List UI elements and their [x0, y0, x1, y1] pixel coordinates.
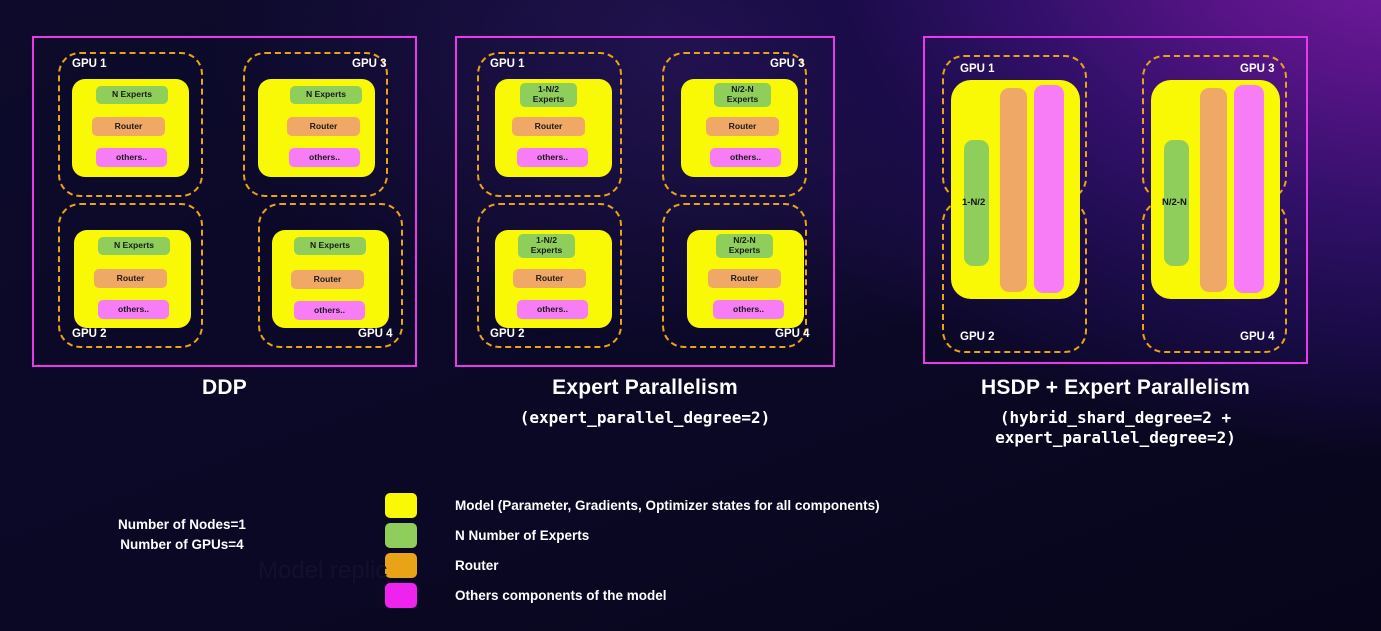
- chip-others-ep-gpu2: others..: [517, 300, 588, 319]
- gpu-label-ddp-gpu3: GPU 3: [352, 58, 387, 70]
- gpu-label-ep-gpu3: GPU 3: [770, 58, 805, 70]
- chip-others-ddp-gpu3: others..: [289, 148, 360, 167]
- legend-label-experts: N Number of Experts: [455, 528, 589, 543]
- legend-item-model: Model (Parameter, Gradients, Optimizer s…: [385, 490, 880, 520]
- ghost-label-model-replica: Model replic: [258, 557, 387, 585]
- vbar-router-hsdp-col1: [1000, 88, 1027, 292]
- gpu-label-ddp-gpu2: GPU 2: [72, 328, 107, 340]
- gpu-label-ddp-gpu1: GPU 1: [72, 58, 107, 70]
- chip-others-ddp-gpu4: others..: [294, 301, 365, 320]
- chip-experts-ep-gpu1: 1-N/2 Experts: [520, 83, 577, 107]
- gpu-label-hsdp-gpu3: GPU 3: [1240, 63, 1275, 75]
- vbar-experts-label-hsdp-col2: N/2-N: [1162, 197, 1187, 208]
- legend-swatch-router: [385, 553, 417, 578]
- panel-title-ddp: DDP: [32, 376, 417, 400]
- panel-title-hsdp-expert-parallelism: HSDP + Expert Parallelism: [923, 376, 1308, 400]
- legend-item-router: Router: [385, 550, 880, 580]
- legend-swatch-model: [385, 493, 417, 518]
- panel-subtitle-expert-parallelism: (expert_parallel_degree=2): [435, 408, 855, 428]
- legend-item-experts: N Number of Experts: [385, 520, 880, 550]
- chip-router-ddp-gpu3: Router: [287, 117, 360, 136]
- vbar-experts-label-hsdp-col1: 1-N/2: [962, 197, 985, 208]
- legend: Model (Parameter, Gradients, Optimizer s…: [385, 490, 880, 610]
- chip-others-ddp-gpu1: others..: [96, 148, 167, 167]
- gpu-label-ep-gpu4: GPU 4: [775, 328, 810, 340]
- chip-others-ep-gpu3: others..: [710, 148, 781, 167]
- vbar-others-hsdp-col1: [1034, 85, 1064, 293]
- gpu-label-ep-gpu2: GPU 2: [490, 328, 525, 340]
- chip-router-ddp-gpu1: Router: [92, 117, 165, 136]
- legend-label-router: Router: [455, 558, 499, 573]
- gpu-label-hsdp-gpu2: GPU 2: [960, 331, 995, 343]
- chip-router-ep-gpu1: Router: [512, 117, 585, 136]
- legend-label-others: Others components of the model: [455, 588, 667, 603]
- legend-swatch-others: [385, 583, 417, 608]
- chip-others-ep-gpu1: others..: [517, 148, 588, 167]
- chip-experts-ddp-gpu4: N Experts: [294, 237, 366, 255]
- chip-experts-ep-gpu4: N/2-N Experts: [716, 234, 773, 258]
- chip-others-ep-gpu4: others..: [713, 300, 784, 319]
- legend-label-model: Model (Parameter, Gradients, Optimizer s…: [455, 498, 880, 513]
- chip-experts-ddp-gpu3: N Experts: [290, 86, 362, 104]
- chip-experts-ddp-gpu2: N Experts: [98, 237, 170, 255]
- chip-others-ddp-gpu2: others..: [98, 300, 169, 319]
- chip-experts-ep-gpu3: N/2-N Experts: [714, 83, 771, 107]
- nodes-info: Number of Nodes=1 Number of GPUs=4: [118, 515, 246, 554]
- vbar-router-hsdp-col2: [1200, 88, 1227, 292]
- chip-router-ddp-gpu2: Router: [94, 269, 167, 288]
- chip-router-ddp-gpu4: Router: [291, 270, 364, 289]
- gpu-label-hsdp-gpu4: GPU 4: [1240, 331, 1275, 343]
- gpu-label-ddp-gpu4: GPU 4: [358, 328, 393, 340]
- chip-router-ep-gpu3: Router: [706, 117, 779, 136]
- chip-experts-ddp-gpu1: N Experts: [96, 86, 168, 104]
- legend-item-others: Others components of the model: [385, 580, 880, 610]
- gpu-label-ep-gpu1: GPU 1: [490, 58, 525, 70]
- chip-router-ep-gpu2: Router: [513, 269, 586, 288]
- legend-swatch-experts: [385, 523, 417, 548]
- chip-experts-ep-gpu2: 1-N/2 Experts: [518, 234, 575, 258]
- panel-title-expert-parallelism: Expert Parallelism: [455, 376, 835, 400]
- panel-subtitle-hsdp-expert-parallelism: (hybrid_shard_degree=2 + expert_parallel…: [923, 408, 1308, 447]
- chip-router-ep-gpu4: Router: [708, 269, 781, 288]
- gpu-label-hsdp-gpu1: GPU 1: [960, 63, 995, 75]
- vbar-others-hsdp-col2: [1234, 85, 1264, 293]
